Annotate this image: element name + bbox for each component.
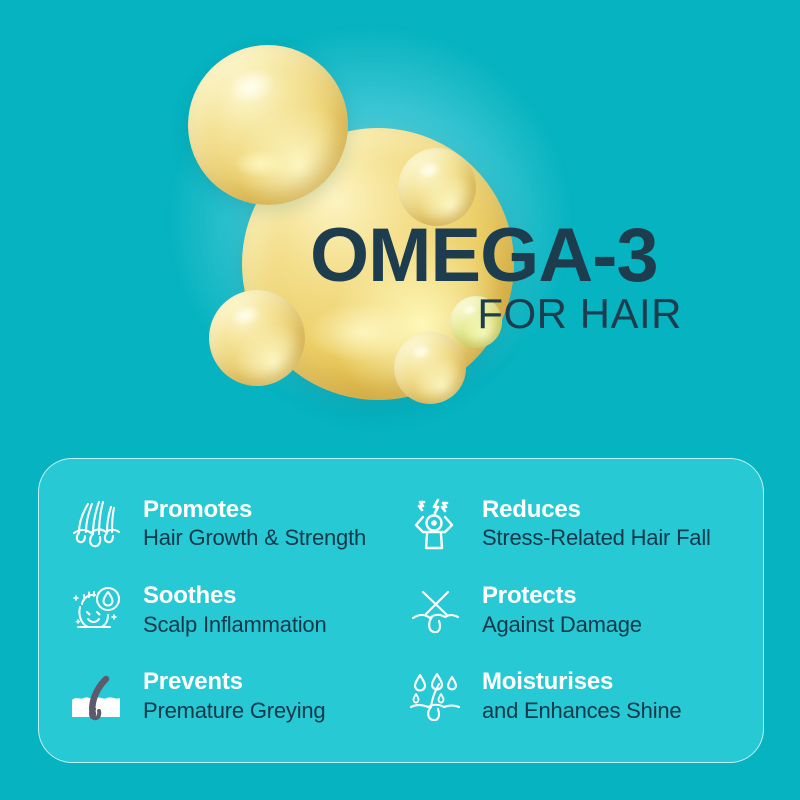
soothed-scalp-face-icon — [67, 581, 125, 639]
benefit-title: Reduces — [482, 497, 711, 524]
benefit-description: Hair Growth & Strength — [143, 525, 366, 551]
benefit-item-reduces: Reduces Stress-Related Hair Fall — [406, 481, 737, 567]
benefit-description: Against Damage — [482, 612, 642, 638]
benefit-item-soothes: Soothes Scalp Inflammation — [67, 567, 398, 653]
oil-bubble-bottom-left — [209, 290, 305, 386]
benefit-text-protects: Protects Against Damage — [482, 583, 642, 638]
benefit-title: Soothes — [143, 583, 327, 610]
benefits-grid: Promotes Hair Growth & Strength — [39, 459, 763, 762]
benefit-item-protects: Protects Against Damage — [406, 567, 737, 653]
grey-hair-follicle-icon — [67, 668, 125, 726]
benefit-item-moisturises: Moisturises and Enhances Shine — [406, 654, 737, 740]
benefits-card: Promotes Hair Growth & Strength — [38, 458, 764, 763]
benefit-text-moisturises: Moisturises and Enhances Shine — [482, 669, 681, 724]
benefit-description: and Enhances Shine — [482, 698, 681, 724]
stressed-person-icon — [406, 495, 464, 553]
omega3-hair-poster: OMEGA-3 FOR HAIR — [0, 0, 800, 800]
hero-artwork — [0, 0, 800, 460]
oil-bubble-bottom-center — [394, 332, 466, 404]
hair-follicle-growth-icon — [67, 495, 125, 553]
benefit-description: Stress-Related Hair Fall — [482, 525, 711, 551]
benefit-text-prevents: Prevents Premature Greying — [143, 669, 325, 724]
oil-bubble-small-right — [450, 296, 502, 348]
benefit-text-reduces: Reduces Stress-Related Hair Fall — [482, 497, 711, 552]
benefit-item-promotes: Promotes Hair Growth & Strength — [67, 481, 398, 567]
benefit-title: Moisturises — [482, 669, 681, 696]
benefit-item-prevents: Prevents Premature Greying — [67, 654, 398, 740]
benefit-text-promotes: Promotes Hair Growth & Strength — [143, 497, 366, 552]
benefit-title: Protects — [482, 583, 642, 610]
benefit-text-soothes: Soothes Scalp Inflammation — [143, 583, 327, 638]
benefit-title: Promotes — [143, 497, 366, 524]
benefit-title: Prevents — [143, 669, 325, 696]
benefit-description: Scalp Inflammation — [143, 612, 327, 638]
broken-hair-shield-icon — [406, 581, 464, 639]
oil-bubble-top-left — [188, 45, 348, 205]
hair-follicle-droplets-icon — [406, 668, 464, 726]
oil-bubble-right — [398, 148, 476, 226]
benefit-description: Premature Greying — [143, 698, 325, 724]
